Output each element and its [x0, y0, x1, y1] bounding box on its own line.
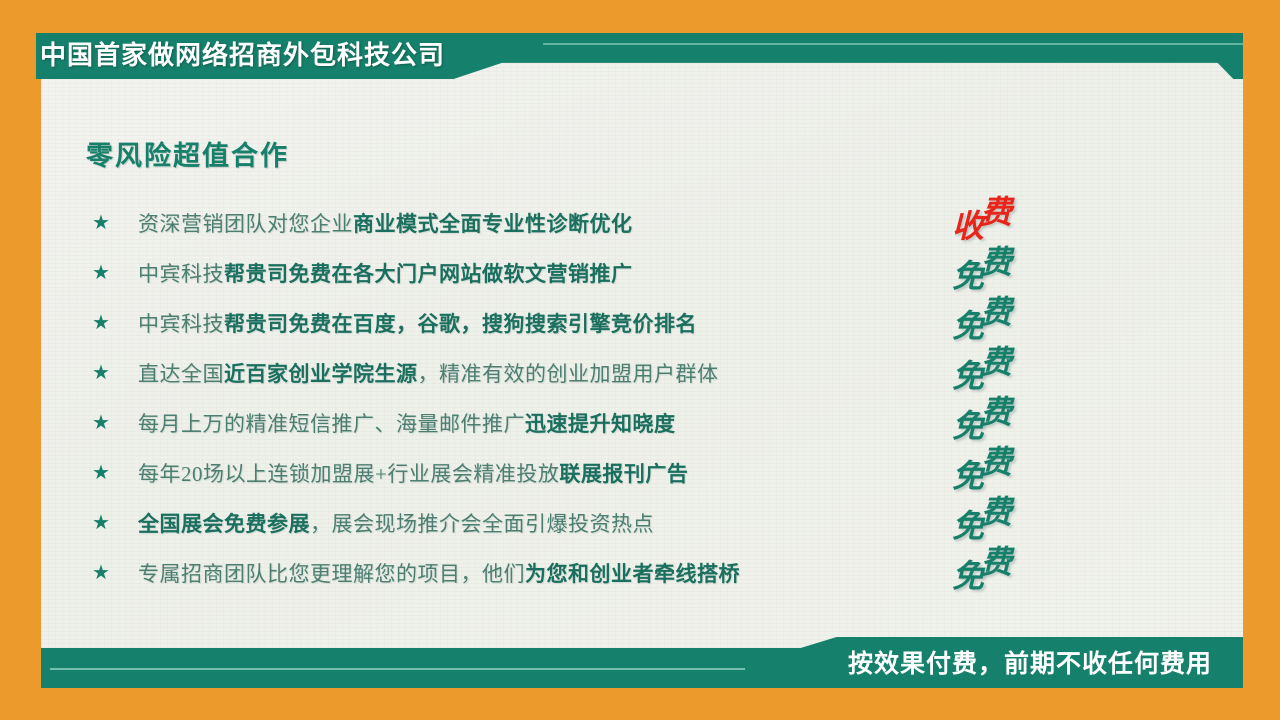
list-item: ★资深营销团队对您企业商业模式全面专业性诊断优化 [92, 198, 922, 248]
price-badge-char-2: 费 [980, 337, 1012, 383]
list-item-label: 中宾科技帮贵司免费在各大门户网站做软文营销推广 [138, 258, 922, 288]
price-badge: 免费 [950, 342, 1014, 388]
list-item-text-plain-suffix: ，展会现场推介会全面引爆投资热点 [310, 512, 654, 536]
star-icon: ★ [92, 413, 138, 433]
list-item-text-emphasis: 全国展会免费参展 [138, 512, 310, 536]
price-badge-char-2: 费 [980, 437, 1012, 483]
list-item-text-plain: 中宾科技 [138, 312, 224, 336]
list-item-text-plain: 直达全国 [138, 362, 224, 386]
list-item: ★中宾科技帮贵司免费在各大门户网站做软文营销推广 [92, 248, 922, 298]
list-item-text-emphasis: 帮贵司免费在百度，谷歌，搜狗搜索引擎竞价排名 [224, 312, 697, 336]
star-icon: ★ [92, 313, 138, 333]
list-item: ★专属招商团队比您更理解您的项目，他们为您和创业者牵线搭桥 [92, 548, 922, 598]
star-icon: ★ [92, 463, 138, 483]
list-item-text-emphasis: 为您和创业者牵线搭桥 [525, 562, 740, 586]
list-item-label: 资深营销团队对您企业商业模式全面专业性诊断优化 [138, 208, 922, 238]
list-item: ★中宾科技帮贵司免费在百度，谷歌，搜狗搜索引擎竞价排名 [92, 298, 922, 348]
price-badge: 收费 [950, 192, 1014, 238]
price-badge: 免费 [950, 492, 1014, 538]
list-item-text-emphasis: 迅速提升知晓度 [525, 412, 676, 436]
slide-canvas: 中国首家做网络招商外包科技公司 零风险超值合作 ★资深营销团队对您企业商业模式全… [0, 0, 1280, 720]
star-icon: ★ [92, 363, 138, 383]
list-item-label: 中宾科技帮贵司免费在百度，谷歌，搜狗搜索引擎竞价排名 [138, 308, 922, 338]
list-item: ★每月上万的精准短信推广、海量邮件推广迅速提升知晓度 [92, 398, 922, 448]
star-icon: ★ [92, 213, 138, 233]
list-item-text-plain: 资深营销团队对您企业 [138, 212, 353, 236]
list-item-text-emphasis: 帮贵司免费在各大门户网站做软文营销推广 [224, 262, 633, 286]
list-item-text-plain: 中宾科技 [138, 262, 224, 286]
list-item-label: 专属招商团队比您更理解您的项目，他们为您和创业者牵线搭桥 [138, 558, 922, 588]
price-badge-char-2: 费 [980, 287, 1012, 333]
footer-accent-line [50, 668, 745, 670]
list-item-text-plain: 专属招商团队比您更理解您的项目，他们 [138, 562, 525, 586]
list-item-label: 直达全国近百家创业学院生源，精准有效的创业加盟用户群体 [138, 358, 922, 388]
list-item-label: 全国展会免费参展，展会现场推介会全面引爆投资热点 [138, 508, 922, 538]
price-badge: 免费 [950, 442, 1014, 488]
header-title: 中国首家做网络招商外包科技公司 [40, 36, 445, 74]
price-badge: 免费 [950, 242, 1014, 288]
page-title: 零风险超值合作 [86, 134, 289, 173]
header-accent-line [543, 43, 1243, 45]
price-badge-char-2: 费 [980, 487, 1012, 533]
price-row: 免费 [950, 548, 1070, 598]
list-item: ★直达全国近百家创业学院生源，精准有效的创业加盟用户群体 [92, 348, 922, 398]
price-badge-char-2: 费 [980, 237, 1012, 283]
list-item-label: 每月上万的精准短信推广、海量邮件推广迅速提升知晓度 [138, 408, 922, 438]
footer-tagline: 按效果付费，前期不收任何费用 [848, 646, 1212, 682]
star-icon: ★ [92, 263, 138, 283]
price-badge: 免费 [950, 542, 1014, 588]
star-icon: ★ [92, 513, 138, 533]
price-column: 收费免费免费免费免费免费免费免费 [950, 198, 1070, 598]
list-item-text-plain: 每年20场以上连锁加盟展+行业展会精准投放 [138, 462, 559, 486]
list-item-text-plain: 每月上万的精准短信推广、海量邮件推广 [138, 412, 525, 436]
price-badge-char-2: 费 [980, 187, 1012, 233]
list-item-text-emphasis: 联展报刊广告 [559, 462, 688, 486]
price-badge-char-2: 费 [980, 387, 1012, 433]
list-item-text-plain-suffix: ，精准有效的创业加盟用户群体 [418, 362, 719, 386]
price-badge: 免费 [950, 292, 1014, 338]
list-item-label: 每年20场以上连锁加盟展+行业展会精准投放联展报刊广告 [138, 458, 922, 488]
price-badge: 免费 [950, 392, 1014, 438]
list-item-text-emphasis: 商业模式全面专业性诊断优化 [353, 212, 633, 236]
list-item-text-emphasis: 近百家创业学院生源 [224, 362, 418, 386]
list-item: ★全国展会免费参展，展会现场推介会全面引爆投资热点 [92, 498, 922, 548]
price-badge-char-2: 费 [980, 537, 1012, 583]
list-item: ★每年20场以上连锁加盟展+行业展会精准投放联展报刊广告 [92, 448, 922, 498]
star-icon: ★ [92, 563, 138, 583]
benefit-list: ★资深营销团队对您企业商业模式全面专业性诊断优化★中宾科技帮贵司免费在各大门户网… [92, 198, 922, 598]
